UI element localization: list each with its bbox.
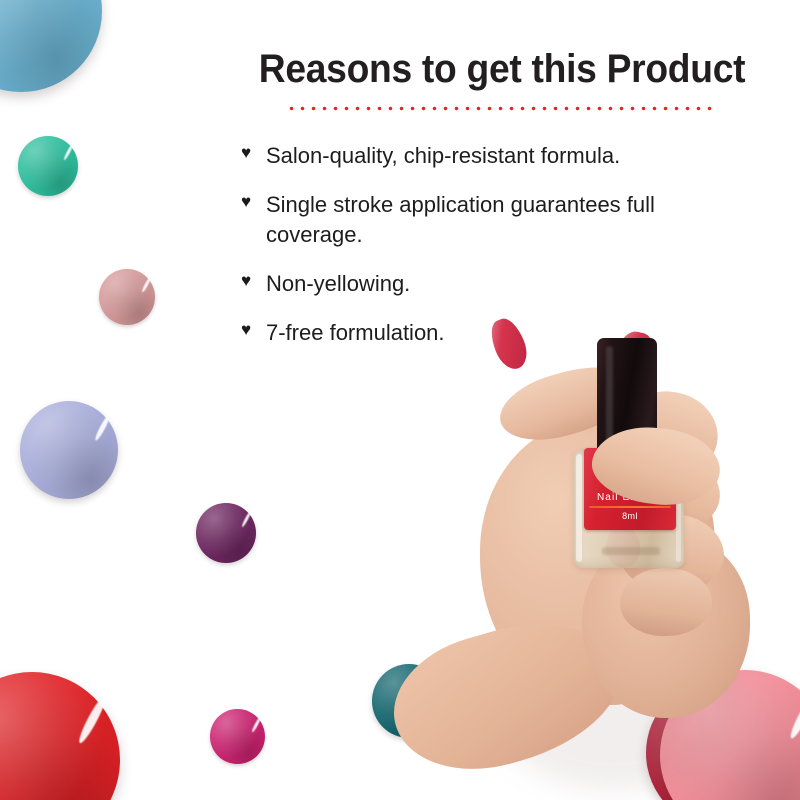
lavender-drop [20, 401, 118, 499]
dusty-rose-drop [99, 269, 155, 325]
heart-bullet-icon: ♥ [241, 191, 251, 214]
benefit-text: 7-free formulation. [266, 320, 445, 345]
drop-shading [99, 269, 155, 325]
benefit-item: ♥7-free formulation. [232, 318, 734, 347]
label-accent-stripe [589, 506, 671, 508]
sky-blue-drop [0, 0, 102, 92]
crimson-red-drop [0, 672, 120, 800]
page-title: Reasons to get this Product [251, 48, 753, 90]
drop-shading [210, 709, 265, 764]
drop-shading [18, 136, 78, 196]
bottle-bottom-embossed-text [602, 547, 660, 555]
copy-block: Reasons to get this Product ♥Salon-quali… [232, 48, 772, 367]
benefit-text: Salon-quality, chip-resistant formula. [266, 143, 620, 168]
product-benefits-banner: STREET ® WEAR Nail Enamel 8ml Reasons to… [0, 0, 800, 800]
heart-bullet-icon: ♥ [241, 270, 251, 293]
glass-left-edge [576, 454, 582, 562]
drop-shading [196, 503, 256, 563]
plum-purple-drop [196, 503, 256, 563]
benefit-text: Non-yellowing. [266, 271, 410, 296]
drop-shading [0, 0, 102, 92]
benefits-list: ♥Salon-quality, chip-resistant formula.♥… [232, 141, 772, 347]
benefit-item: ♥Single stroke application guarantees fu… [232, 190, 734, 249]
drop-shading [20, 401, 118, 499]
heart-bullet-icon: ♥ [241, 142, 251, 165]
magenta-drop [210, 709, 265, 764]
drop-shading [0, 672, 120, 800]
hand-holding-bottle-illustration: STREET ® WEAR Nail Enamel 8ml [470, 300, 800, 800]
title-divider [286, 106, 718, 111]
teal-green-drop [18, 136, 78, 196]
benefit-text: Single stroke application guarantees ful… [266, 192, 655, 246]
benefit-item: ♥Non-yellowing. [232, 269, 734, 298]
label-volume: 8ml [584, 511, 676, 521]
benefit-item: ♥Salon-quality, chip-resistant formula. [232, 141, 734, 170]
heart-bullet-icon: ♥ [241, 319, 251, 342]
